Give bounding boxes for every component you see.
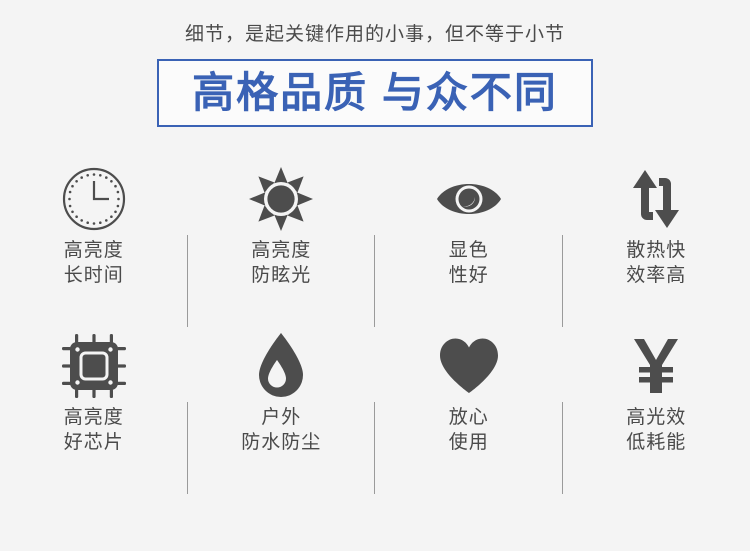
- feature-label: 放心使用: [449, 405, 489, 455]
- feature-label-line2: 防水防尘: [241, 432, 321, 453]
- up-down-arrows-icon: [628, 160, 684, 238]
- clock-icon: [61, 160, 127, 238]
- feature-label-line2: 效率高: [626, 265, 686, 286]
- feature-label-line1: 高亮度: [64, 407, 124, 428]
- feature-label: 户外防水防尘: [241, 405, 321, 455]
- feature-cell-heat-dissipation: 散热快效率高: [563, 160, 750, 327]
- feature-label-line2: 好芯片: [64, 432, 124, 453]
- feature-label-line2: 性好: [449, 265, 489, 286]
- feature-label: 显色性好: [449, 238, 489, 288]
- feature-row: 高亮度好芯片 户外防水防尘 放心使用: [0, 327, 750, 494]
- feature-label: 散热快效率高: [626, 238, 686, 288]
- feature-grid: 高亮度长时间: [0, 160, 750, 494]
- sun-icon: [248, 160, 314, 238]
- banner-title: 高格品质 与众不同: [192, 70, 558, 116]
- feature-label-line2: 低耗能: [626, 432, 686, 453]
- feature-cell-chip: 高亮度好芯片: [0, 327, 188, 494]
- feature-cell-clock: 高亮度长时间: [0, 160, 188, 327]
- banner-title-box: 高格品质 与众不同: [157, 59, 593, 127]
- feature-label-line1: 高亮度: [251, 240, 311, 261]
- eye-icon: [435, 160, 503, 238]
- feature-label-line2: 使用: [449, 432, 489, 453]
- water-drop-icon: [255, 327, 307, 405]
- feature-label-line1: 显色: [449, 240, 489, 261]
- yen-symbol-icon: [630, 327, 682, 405]
- feature-cell-waterproof: 户外防水防尘: [188, 327, 376, 494]
- feature-label-line1: 高光效: [626, 407, 686, 428]
- cpu-chip-icon: [62, 327, 126, 405]
- feature-cell-eye: 显色性好: [375, 160, 563, 327]
- feature-label: 高光效低耗能: [626, 405, 686, 455]
- feature-label-line1: 高亮度: [64, 240, 124, 261]
- feature-label-line2: 防眩光: [251, 265, 311, 286]
- feature-label: 高亮度防眩光: [251, 238, 311, 288]
- feature-cell-reliable: 放心使用: [375, 327, 563, 494]
- feature-cell-sun: 高亮度防眩光: [188, 160, 376, 327]
- heart-icon: [438, 327, 500, 405]
- feature-label-line2: 长时间: [64, 265, 124, 286]
- feature-cell-energy-saving: 高光效低耗能: [563, 327, 750, 494]
- feature-row: 高亮度长时间: [0, 160, 750, 327]
- feature-label: 高亮度好芯片: [64, 405, 124, 455]
- banner-subtitle: 细节，是起关键作用的小事，但不等于小节: [0, 0, 750, 48]
- feature-label-line1: 散热快: [626, 240, 686, 261]
- feature-label-line1: 放心: [449, 407, 489, 428]
- banner: 细节，是起关键作用的小事，但不等于小节 高格品质 与众不同: [0, 0, 750, 127]
- feature-label-line1: 户外: [261, 407, 301, 428]
- feature-label: 高亮度长时间: [64, 238, 124, 288]
